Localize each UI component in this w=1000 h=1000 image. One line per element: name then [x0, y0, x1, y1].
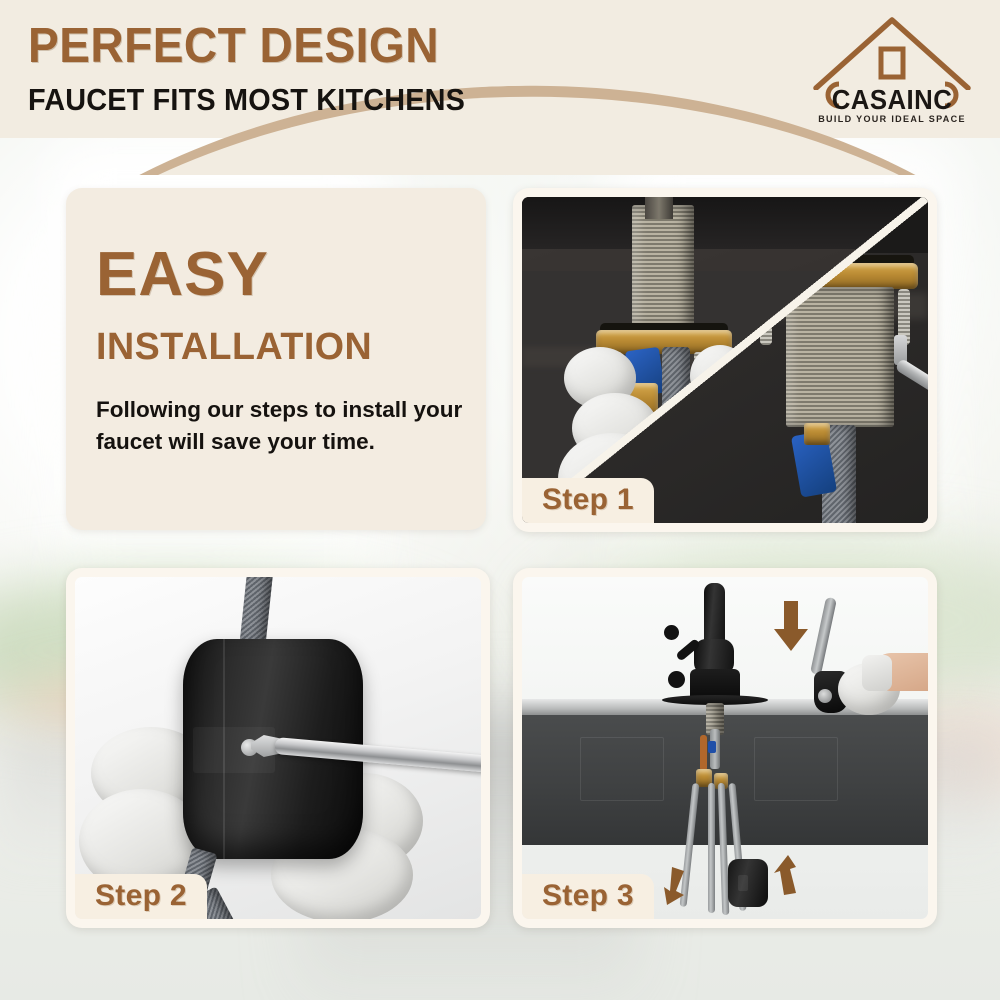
arrow-down-icon [768, 599, 810, 653]
arrow-up-right-icon [770, 853, 800, 897]
intro-subhead: INSTALLATION [96, 328, 372, 366]
intro-description: Following our steps to install your fauc… [96, 394, 468, 458]
glove-cuff [862, 655, 892, 691]
hose-weight [728, 859, 768, 907]
cold-line-marker [708, 741, 716, 753]
step-1-label: Step 1 [522, 478, 654, 523]
cabinet-panel-right [754, 737, 838, 801]
spray-head-button [818, 689, 832, 703]
infographic-page: PERFECT DESIGN FAUCET FITS MOST KITCHENS… [0, 0, 1000, 1000]
step-1-panel: Step 1 [513, 188, 937, 532]
page-title: PERFECT DESIGN [28, 22, 439, 71]
logo-wordmark: CASAINC [809, 84, 975, 116]
intro-headline: EASY [96, 244, 269, 306]
page-subtitle: FAUCET FITS MOST KITCHENS [28, 84, 465, 115]
step-3-panel: Step 3 [513, 568, 937, 928]
intro-panel: EASY INSTALLATION Following our steps to… [66, 188, 486, 530]
step-2-label: Step 2 [75, 874, 207, 919]
faucet-handle-knob [664, 625, 679, 640]
step-2-photo: Step 2 [75, 577, 481, 919]
step-3-photo: Step 3 [522, 577, 928, 919]
supply-hose-2 [708, 783, 715, 913]
step-2-panel: Step 2 [66, 568, 490, 928]
diagonal-split-divider [522, 197, 928, 523]
cabinet-panel-left [580, 737, 664, 801]
arrow-down-left-icon [660, 865, 690, 907]
brand-logo: CASAINC BUILD YOUR IDEAL SPACE [802, 16, 982, 126]
step-1-photo: Step 1 [522, 197, 928, 523]
logo-tagline: BUILD YOUR IDEAL SPACE [807, 114, 978, 125]
faucet-handle-pivot [668, 671, 685, 688]
hot-line-marker [700, 735, 707, 771]
hose-weight-slot [738, 875, 748, 891]
step-3-label: Step 3 [522, 874, 654, 919]
